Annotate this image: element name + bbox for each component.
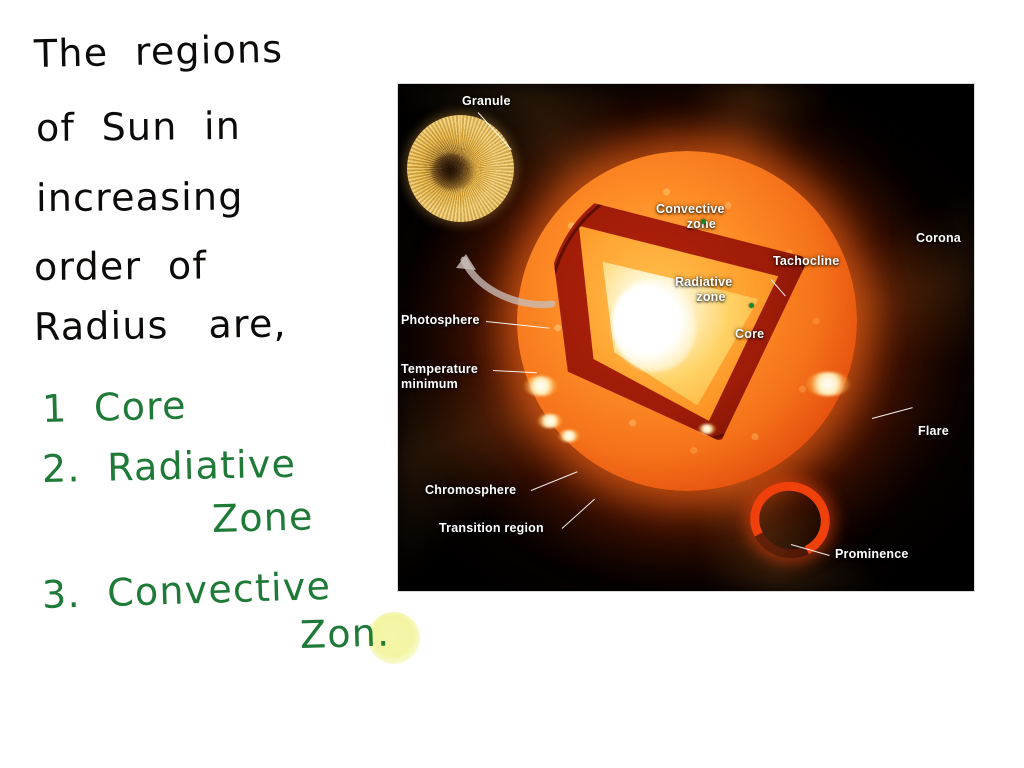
note-line-5: Radius are, (34, 301, 287, 349)
convective-zone-marker-dot (701, 219, 706, 224)
label-temperature-minimum: Temperature minimum (401, 362, 478, 391)
sunspot (431, 154, 474, 190)
limb-flare-left (524, 376, 558, 396)
label-core: Core (735, 327, 764, 342)
list-item-3-convective: 3. Convective (41, 564, 331, 617)
label-granule: Granule (462, 94, 511, 109)
note-line-2: of Sun in (36, 104, 242, 150)
limb-flare-lower (558, 430, 580, 442)
note-line-1: The regions (34, 27, 284, 76)
list-item-2-radiative-cont: Zone (211, 494, 314, 541)
label-tachocline: Tachocline (773, 254, 839, 269)
list-item-2-radiative: 2. Radiative (42, 442, 297, 491)
label-chromosphere: Chromosphere (425, 483, 516, 498)
label-radiative-zone: Radiative zone (675, 275, 732, 304)
label-transition-region: Transition region (439, 521, 544, 536)
note-line-3: increasing (36, 175, 244, 220)
radiative-zone-marker-dot (749, 303, 754, 308)
label-photosphere: Photosphere (401, 313, 480, 328)
label-prominence: Prominence (835, 547, 909, 562)
label-flare: Flare (918, 424, 949, 439)
sun-structure-figure: Granule Photosphere Temperature minimum … (397, 83, 975, 592)
handwritten-notes: The regions of Sun in increasing order o… (0, 0, 400, 700)
note-line-4: order of (34, 243, 207, 289)
list-item-1-core: 1 Core (41, 383, 187, 431)
limb-flare-mid (698, 424, 716, 434)
limb-flare-right (806, 372, 850, 396)
label-convective-zone: Convective zone (656, 202, 725, 231)
label-corona: Corona (916, 231, 961, 246)
granule-inset-circle (407, 115, 514, 222)
granule-pointer-arrow (452, 252, 562, 312)
limb-flare-left-2 (537, 414, 563, 428)
list-item-3-convective-cont: Zon. (299, 610, 390, 657)
